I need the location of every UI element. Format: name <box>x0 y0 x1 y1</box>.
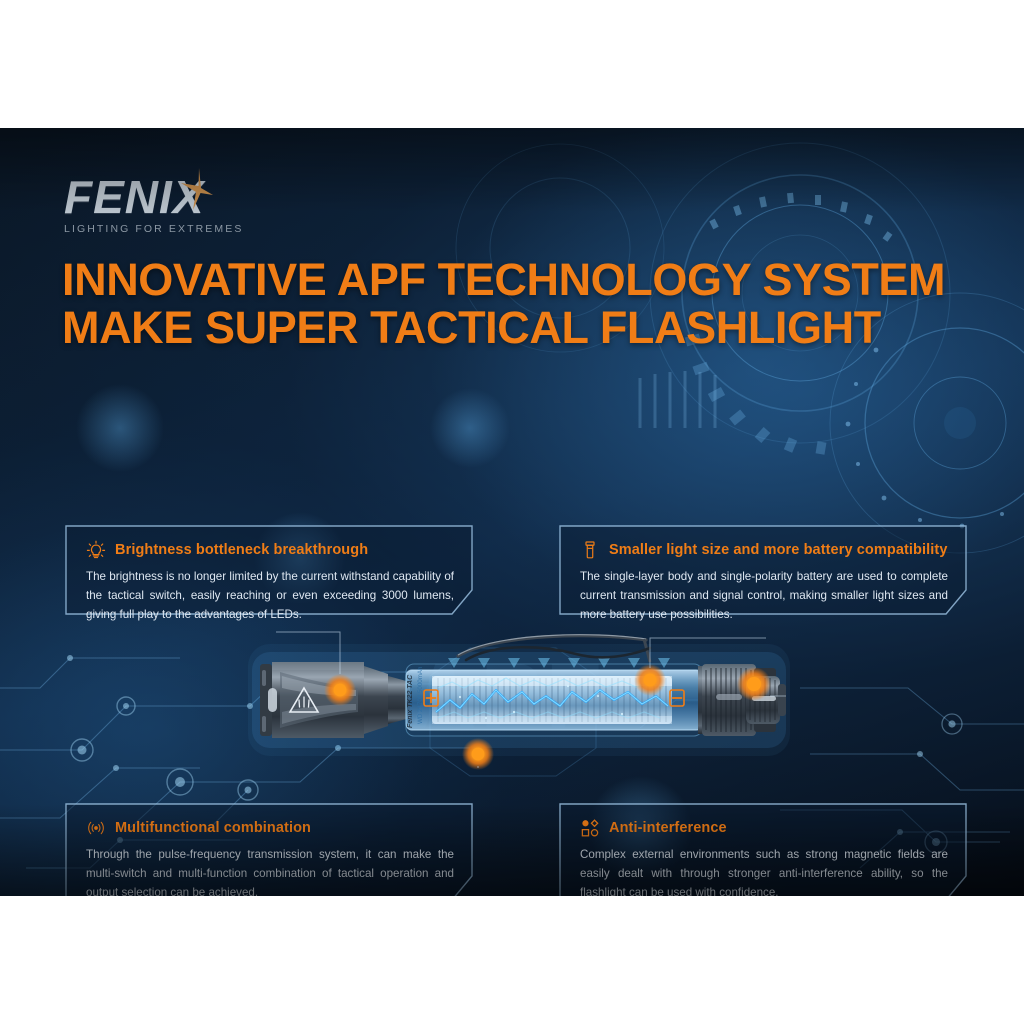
svg-text:Fenix TK22 TAC: Fenix TK22 TAC <box>407 674 414 728</box>
page-title: INNOVATIVE APF TECHNOLOGY SYSTEM MAKE SU… <box>62 256 962 351</box>
feature-body: Through the pulse-frequency transmission… <box>86 846 454 896</box>
feature-title: Anti-interference <box>609 820 727 836</box>
feature-card-multifunctional-combination: Multifunctional combination Through the … <box>64 802 474 896</box>
feature-body: Complex external environments such as st… <box>580 846 948 896</box>
background-circuit-pattern <box>0 128 1024 896</box>
star-icon <box>179 168 213 210</box>
feature-title: Multifunctional combination <box>115 820 311 836</box>
feature-title: Smaller light size and more battery comp… <box>609 542 948 558</box>
flashlight-icon <box>580 540 600 560</box>
feature-body: The single-layer body and single-polarit… <box>580 568 948 624</box>
feature-card-smaller-light-size-and-more-battery-compatibility: Smaller light size and more battery comp… <box>558 524 968 616</box>
cutaway-tactical-flashlight-illustration: WD 21700 5000mAh Fenix TK22 TAC <box>246 626 792 772</box>
fenix-logo: FENIX LIGHTING FOR EXTREMES <box>64 174 364 240</box>
headline-line-1: INNOVATIVE APF TECHNOLOGY SYSTEM <box>62 256 962 304</box>
feature-title: Brightness bottleneck breakthrough <box>115 542 368 558</box>
feature-card-brightness-bottleneck-breakthrough: Brightness bottleneck breakthrough The b… <box>64 524 474 616</box>
shapes-grid-icon <box>580 818 600 838</box>
poster-background: APF FENIX LIGHTING FOR EXTREMES INNOVATI… <box>0 128 1024 896</box>
lightbulb-icon <box>86 540 106 560</box>
feature-body: The brightness is no longer limited by t… <box>86 568 454 624</box>
logo-tagline: LIGHTING FOR EXTREMES <box>64 223 364 235</box>
headline-line-2: MAKE SUPER TACTICAL FLASHLIGHT <box>62 304 962 352</box>
poster-canvas: APF FENIX LIGHTING FOR EXTREMES INNOVATI… <box>0 0 1024 1024</box>
signal-waves-icon <box>86 818 106 838</box>
feature-card-anti-interference: Anti-interference Complex external envir… <box>558 802 968 896</box>
svg-text:WD 21700 5000mAh: WD 21700 5000mAh <box>417 666 424 724</box>
logo-wordmark: FENIX <box>64 174 364 220</box>
